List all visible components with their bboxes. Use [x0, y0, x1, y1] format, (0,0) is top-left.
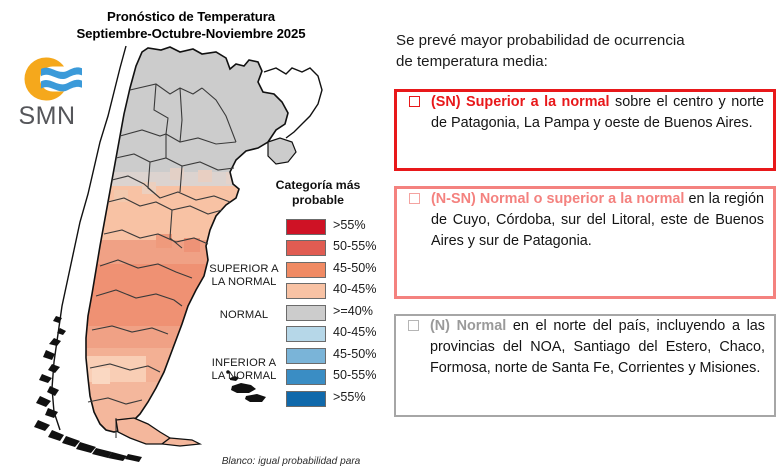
checkbox-icon-wrap [397, 92, 431, 107]
legend-pct-label: 40-45% [333, 325, 376, 339]
legend-swatch [286, 348, 326, 364]
legend-pct-label: 40-45% [333, 282, 376, 296]
title-line-1: Pronóstico de Temperatura [46, 8, 336, 25]
forecast-item-text: (N) Normal en el norte del país, incluye… [430, 316, 774, 379]
forecast-intro: Se prevé mayor probabilidad de ocurrenci… [396, 30, 778, 73]
legend-swatch [286, 326, 326, 342]
tierra-del-fuego [116, 418, 170, 444]
legend-swatch [286, 219, 326, 235]
checkbox-icon[interactable] [408, 320, 419, 331]
legend-swatch [286, 305, 326, 321]
legend-pct-label: >=40% [333, 304, 373, 318]
legend-swatch [286, 391, 326, 407]
checkbox-icon[interactable] [409, 193, 420, 204]
intro-line-1: Se prevé mayor probabilidad de ocurrenci… [396, 30, 778, 51]
legend-title: Categoría más probable [253, 178, 383, 208]
legend-swatch [286, 369, 326, 385]
forecast-item-sn: (SN) Superior a la normal sobre el centr… [394, 89, 776, 171]
legend-swatch [286, 240, 326, 256]
forecast-item-highlight: (N-SN) Normal o superior a la normal [431, 191, 684, 207]
legend-row: 45-50% [205, 346, 385, 368]
legend-pct-label: >55% [333, 390, 366, 404]
checkbox-icon-wrap [396, 316, 430, 331]
legend-row: >55% [205, 217, 385, 239]
legend-row: >=40% [205, 303, 385, 325]
legend-pct-label: 50-55% [333, 368, 376, 382]
uruguay-shape [268, 138, 296, 164]
tdf-east-tip [162, 438, 200, 446]
legend-row: 45-50% [205, 260, 385, 282]
legend-title-line-2: probable [292, 193, 344, 207]
forecast-item-text: (SN) Superior a la normal sobre el centr… [431, 92, 773, 134]
legend-note: Blanco: igual probabilidad para las tres… [193, 455, 389, 466]
legend-pct-label: 45-50% [333, 261, 376, 275]
legend-note-line-1: Blanco: igual probabilidad para [222, 456, 361, 466]
forecast-item-nsn: (N-SN) Normal o superior a la normal en … [394, 186, 776, 299]
legend-row: 50-55% [205, 367, 385, 389]
map-panel: Pronóstico de Temperatura Septiembre-Oct… [0, 0, 388, 466]
legend-row: 40-45% [205, 324, 385, 346]
forecast-text-panel: Se prevé mayor probabilidad de ocurrenci… [393, 0, 783, 466]
forecast-item-n: (N) Normal en el norte del país, incluye… [394, 314, 776, 417]
forecast-item-highlight: (N) Normal [430, 318, 506, 334]
legend-title-line-1: Categoría más [276, 178, 361, 192]
legend-pct-label: 45-50% [333, 347, 376, 361]
legend-swatch [286, 262, 326, 278]
legend: Categoría más probable SUPERIOR A LA NOR… [205, 178, 385, 413]
forecast-infographic: Pronóstico de Temperatura Septiembre-Oct… [0, 0, 783, 466]
legend-rows: SUPERIOR A LA NORMAL NORMAL INFERIOR A L… [205, 217, 385, 413]
legend-pct-label: 50-55% [333, 239, 376, 253]
legend-row: >55% [205, 389, 385, 411]
forecast-item-text: (N-SN) Normal o superior a la normal en … [431, 189, 773, 252]
legend-row: 50-55% [205, 238, 385, 260]
checkbox-icon[interactable] [409, 96, 420, 107]
legend-row: 40-45% [205, 281, 385, 303]
forecast-item-highlight: (SN) Superior a la normal [431, 94, 610, 110]
intro-line-2: de temperatura media: [396, 51, 778, 72]
legend-pct-label: >55% [333, 218, 366, 232]
legend-swatch [286, 283, 326, 299]
checkbox-icon-wrap [397, 189, 431, 204]
